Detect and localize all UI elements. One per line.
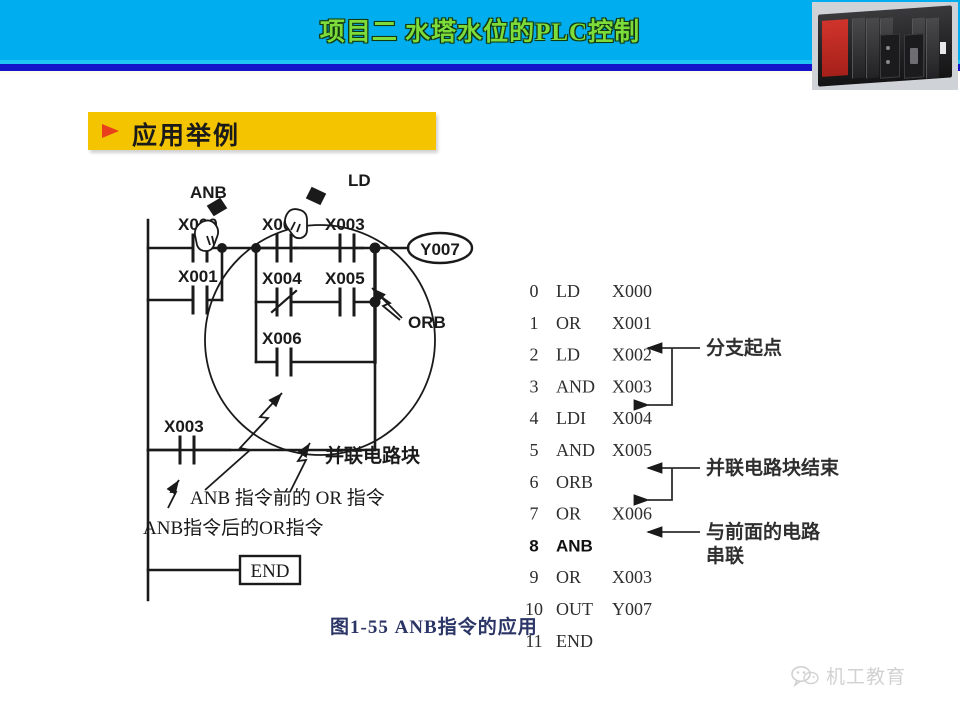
callout-ORB: ORB xyxy=(408,313,446,332)
junction-dot xyxy=(217,243,227,253)
il-step-8: 8 xyxy=(529,536,538,555)
label-X004: X004 xyxy=(262,269,302,288)
il-annotation-anb-1: 与前面的电路 xyxy=(706,520,821,543)
il-operand-0: X000 xyxy=(612,281,652,301)
end-label: END xyxy=(250,561,289,582)
il-op-1: OR xyxy=(556,313,581,333)
il-op-9: OR xyxy=(556,567,581,587)
contact-X001 xyxy=(193,287,207,313)
il-annotation-branch-start: 分支起点 xyxy=(706,337,782,359)
contact-X004-normally-closed xyxy=(272,289,296,315)
section-banner: 应用举例 xyxy=(88,112,436,150)
il-op-6: ORB xyxy=(556,472,593,492)
il-step-2: 2 xyxy=(530,345,539,365)
highlight-circle-parallel-block xyxy=(205,225,435,455)
section-title: 应用举例 xyxy=(132,116,240,152)
coil-label-Y007: Y007 xyxy=(420,240,460,259)
il-operand-10: Y007 xyxy=(612,599,652,619)
callout-ANB: ANB xyxy=(190,183,227,202)
arrow-bullet-icon xyxy=(102,124,119,138)
il-op-8: ANB xyxy=(556,536,593,555)
il-step-3: 3 xyxy=(530,376,539,396)
annotation-or-before-anb: ANB 指令前的 OR 指令 xyxy=(190,487,385,509)
contact-X005 xyxy=(340,289,354,315)
wechat-icon xyxy=(790,664,820,688)
il-operand-2: X002 xyxy=(612,345,652,365)
pointing-hand-ld-icon xyxy=(285,188,325,238)
contact-X006 xyxy=(277,349,291,375)
il-operand-3: X003 xyxy=(612,376,652,396)
figure-caption: 图1-55 ANB指令的应用 xyxy=(330,612,538,639)
junction-dot xyxy=(370,297,381,308)
il-op-11: END xyxy=(556,631,593,651)
slide-root: 项目二 水塔水位的PLC控制 应用举例 xyxy=(0,0,960,720)
il-step-7: 7 xyxy=(530,504,539,524)
instruction-list: 0LDX0001ORX0012LDX0023ANDX0034LDIX0045AN… xyxy=(525,281,652,651)
annotation-or-after-anb: ANB指令后的OR指令 xyxy=(143,517,324,539)
il-step-1: 1 xyxy=(530,313,539,333)
or-after-anb-leader xyxy=(168,480,179,508)
callout-LD: LD xyxy=(348,171,371,190)
label-X001: X001 xyxy=(178,267,218,286)
il-op-2: LD xyxy=(556,345,580,365)
il-op-5: AND xyxy=(556,440,595,460)
il-step-9: 9 xyxy=(530,567,539,587)
label-X003-branch: X003 xyxy=(325,215,365,234)
il-step-5: 5 xyxy=(530,440,539,460)
il-op-3: AND xyxy=(556,376,595,396)
figure-ladder-and-instruction-list: Y007 END X000 X001 X002 X003 X004 X005 X… xyxy=(0,160,960,660)
plc-module-photo xyxy=(812,2,958,90)
il-operand-7: X006 xyxy=(612,504,652,524)
label-X003-rung2: X003 xyxy=(164,417,204,436)
watermark-label: 机工教育 xyxy=(826,662,906,689)
label-X005: X005 xyxy=(325,269,365,288)
il-op-7: OR xyxy=(556,504,581,524)
junction-dot xyxy=(370,243,381,254)
il-operand-1: X001 xyxy=(612,313,652,333)
il-operand-5: X005 xyxy=(612,440,652,460)
il-step-6: 6 xyxy=(530,472,539,492)
or-before-anb-leader xyxy=(205,393,282,490)
il-op-10: OUT xyxy=(556,599,593,619)
il-leader-orb-b xyxy=(648,468,672,500)
il-step-4: 4 xyxy=(530,408,539,428)
il-annotation-orb-end: 并联电路块结束 xyxy=(706,456,840,479)
il-operand-4: X004 xyxy=(612,408,652,428)
orb-leader-zigzag xyxy=(376,293,400,320)
il-operand-9: X003 xyxy=(612,567,652,587)
annotation-parallel-block: 并联电路块 xyxy=(325,444,421,467)
label-X006: X006 xyxy=(262,329,302,348)
il-op-4: LDI xyxy=(556,408,586,428)
il-op-0: LD xyxy=(556,281,580,301)
watermark: 机工教育 xyxy=(790,662,906,689)
il-step-0: 0 xyxy=(530,281,539,301)
il-annotation-anb-2: 串联 xyxy=(706,545,744,567)
